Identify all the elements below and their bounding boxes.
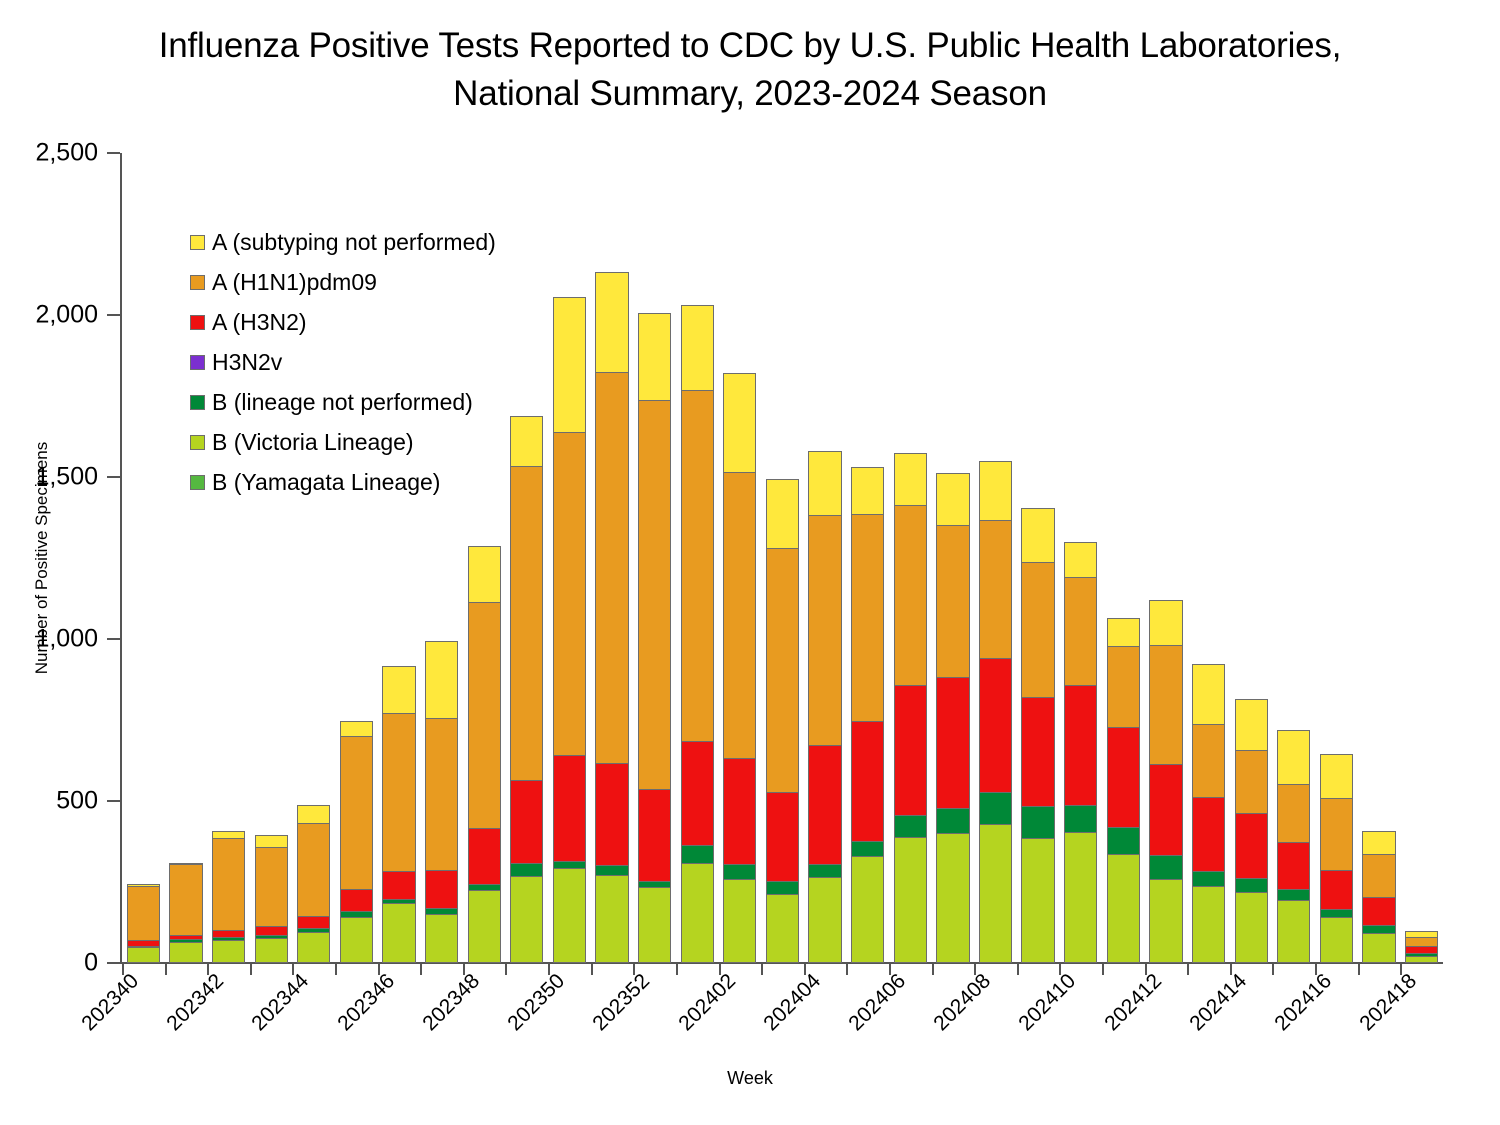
bar-segment: [936, 473, 969, 527]
bar-segment: [766, 881, 799, 895]
bar-segment: [851, 841, 884, 857]
legend-item[interactable]: B (Yamagata Lineage): [190, 462, 520, 502]
bar-segment: [169, 942, 202, 963]
bar-slot: [932, 153, 975, 963]
x-axis-tick-mark: [420, 963, 422, 975]
x-axis-tick-mark: [1017, 963, 1019, 975]
x-axis-tick-label: 202342: [163, 969, 230, 1036]
bar-segment: [723, 373, 756, 473]
bar-segment: [936, 808, 969, 835]
bar-segment: [1064, 805, 1097, 833]
legend-swatch-icon: [190, 395, 205, 410]
bar-slot: [1272, 153, 1315, 963]
bar-segment: [1021, 806, 1054, 839]
x-axis-tick-mark: [676, 963, 678, 975]
bar-segment: [1362, 831, 1395, 855]
bar-slot: 202402: [719, 153, 762, 963]
bar-slot: 202414: [1230, 153, 1273, 963]
bar-segment: [681, 845, 714, 864]
y-axis-tick-label: 0: [0, 949, 120, 978]
y-axis-tick-label: 500: [0, 787, 120, 816]
x-axis-tick-label: 202416: [1270, 969, 1337, 1036]
x-axis-tick-label: 202418: [1356, 969, 1423, 1036]
bar-segment: [681, 863, 714, 963]
bar-segment: [468, 890, 501, 963]
chart-title: Influenza Positive Tests Reported to CDC…: [0, 22, 1500, 119]
legend-item[interactable]: H3N2v: [190, 342, 520, 382]
bar-segment: [723, 472, 756, 758]
bar-slot: [1358, 153, 1401, 963]
bar-slot: 202416: [1315, 153, 1358, 963]
bar-segment: [425, 641, 458, 719]
x-axis-tick-label: 202352: [589, 969, 656, 1036]
bar-slot: 202340: [122, 153, 165, 963]
bar-segment: [425, 718, 458, 871]
stacked-bar[interactable]: [255, 835, 288, 963]
bar-segment: [1320, 870, 1353, 910]
y-axis-label: Number of Positive Specimens: [32, 442, 52, 674]
bar-segment: [1277, 730, 1310, 785]
bar-segment: [851, 856, 884, 963]
bar-segment: [1320, 754, 1353, 799]
stacked-bar[interactable]: [1405, 931, 1438, 963]
bar-segment: [1277, 842, 1310, 890]
bar-segment: [1021, 562, 1054, 698]
bar-slot: [1017, 153, 1060, 963]
bar-segment: [638, 400, 671, 790]
bar-segment: [894, 453, 927, 505]
bar-segment: [723, 864, 756, 881]
bar-segment: [1149, 600, 1182, 647]
bar-segment: [1362, 933, 1395, 963]
y-axis-tick-label: 1,500: [0, 463, 120, 492]
bar-slot: 202408: [974, 153, 1017, 963]
legend-label: H3N2v: [212, 349, 282, 376]
bar-segment: [340, 917, 373, 963]
bar-segment: [936, 833, 969, 963]
stacked-bar[interactable]: [808, 451, 841, 963]
bar-segment: [894, 815, 927, 838]
bar-segment: [510, 876, 543, 963]
bar-segment: [1277, 900, 1310, 964]
x-axis-tick-label: 202348: [418, 969, 485, 1036]
bar-segment: [1064, 542, 1097, 578]
stacked-bar[interactable]: [553, 297, 586, 963]
bar-segment: [979, 658, 1012, 793]
bar-segment: [510, 466, 543, 781]
bar-slot: 202404: [804, 153, 847, 963]
bar-segment: [1149, 645, 1182, 764]
bar-segment: [468, 546, 501, 603]
legend-item[interactable]: A (H1N1)pdm09: [190, 262, 520, 302]
legend-label: A (H3N2): [212, 309, 307, 336]
bar-segment: [894, 837, 927, 963]
bar-segment: [894, 505, 927, 686]
x-axis-tick-label: 202412: [1100, 969, 1167, 1036]
stacked-bar[interactable]: [723, 373, 756, 963]
bar-segment: [1107, 618, 1140, 647]
bar-segment: [595, 875, 628, 963]
bar-segment: [1149, 855, 1182, 881]
bar-slot: [846, 153, 889, 963]
bar-segment: [297, 805, 330, 824]
bar-segment: [169, 864, 202, 936]
bar-segment: [468, 602, 501, 829]
legend-swatch-icon: [190, 315, 205, 330]
stacked-bar[interactable]: [766, 479, 799, 963]
chart-title-line-1: Influenza Positive Tests Reported to CDC…: [40, 22, 1460, 70]
bar-slot: [1187, 153, 1230, 963]
stacked-bar[interactable]: [1192, 664, 1225, 963]
legend-swatch-icon: [190, 235, 205, 250]
bar-segment: [382, 903, 415, 963]
bar-segment: [255, 847, 288, 927]
bar-segment: [297, 823, 330, 917]
bar-segment: [1320, 798, 1353, 871]
stacked-bar[interactable]: [425, 641, 458, 963]
bar-segment: [1362, 854, 1395, 898]
bar-segment: [1107, 646, 1140, 728]
bar-segment: [808, 451, 841, 516]
legend-label: A (subtyping not performed): [212, 229, 496, 256]
stacked-bar[interactable]: [681, 305, 714, 963]
bar-segment: [1021, 697, 1054, 807]
bar-segment: [340, 721, 373, 737]
bar-segment: [808, 864, 841, 879]
x-axis-tick-label: 202406: [844, 969, 911, 1036]
stacked-bar[interactable]: [1021, 508, 1054, 963]
legend-label: B (lineage not performed): [212, 389, 473, 416]
bar-slot: [676, 153, 719, 963]
bar-segment: [1235, 878, 1268, 894]
x-axis-tick-label: 202404: [759, 969, 826, 1036]
bar-segment: [340, 889, 373, 912]
y-axis-tick-mark: [107, 962, 120, 964]
stacked-bar[interactable]: [382, 666, 415, 963]
x-axis-tick-mark: [1358, 963, 1360, 975]
stacked-bar[interactable]: [1320, 754, 1353, 963]
stacked-bar[interactable]: [212, 831, 245, 963]
bar-segment: [425, 870, 458, 910]
bar-segment: [979, 520, 1012, 659]
x-axis-tick-label: 202414: [1185, 969, 1252, 1036]
bar-segment: [808, 745, 841, 865]
bar-segment: [1235, 892, 1268, 963]
legend-item[interactable]: B (lineage not performed): [190, 382, 520, 422]
y-axis-tick-mark: [107, 314, 120, 316]
stacked-bar[interactable]: [1064, 542, 1097, 963]
legend-swatch-icon: [190, 435, 205, 450]
x-axis-tick-label: 202350: [503, 969, 570, 1036]
bar-slot: 202350: [548, 153, 591, 963]
bar-segment: [425, 914, 458, 963]
legend-swatch-icon: [190, 275, 205, 290]
x-axis-tick-label: 202410: [1015, 969, 1082, 1036]
bar-segment: [979, 792, 1012, 824]
bar-segment: [1192, 724, 1225, 798]
bar-segment: [1192, 871, 1225, 887]
stacked-bar[interactable]: [1235, 699, 1268, 963]
x-axis-tick-label: 202344: [248, 969, 315, 1036]
bar-segment: [766, 548, 799, 793]
bar-segment: [1107, 727, 1140, 828]
x-axis-tick-label: 202346: [333, 969, 400, 1036]
stacked-bar[interactable]: [1277, 730, 1310, 963]
y-axis-tick-mark: [107, 476, 120, 478]
bar-segment: [553, 868, 586, 963]
bar-segment: [1192, 797, 1225, 872]
legend-label: B (Yamagata Lineage): [212, 469, 440, 496]
bar-segment: [382, 871, 415, 900]
bar-slot: 202412: [1145, 153, 1188, 963]
stacked-bar[interactable]: [894, 453, 927, 963]
bar-segment: [340, 736, 373, 890]
stacked-bar[interactable]: [340, 721, 373, 963]
y-axis-tick-mark: [107, 638, 120, 640]
bar-slot: 202418: [1400, 153, 1443, 963]
bar-segment: [894, 685, 927, 816]
bar-segment: [638, 887, 671, 963]
bar-segment: [936, 677, 969, 809]
bar-segment: [638, 313, 671, 401]
stacked-bar[interactable]: [1107, 618, 1140, 963]
bar-segment: [468, 828, 501, 884]
bar-segment: [723, 879, 756, 963]
x-axis-tick-mark: [505, 963, 507, 975]
bar-segment: [766, 479, 799, 549]
stacked-bar[interactable]: [1362, 831, 1395, 963]
bar-slot: [1102, 153, 1145, 963]
bar-segment: [1320, 917, 1353, 963]
x-axis-tick-mark: [165, 963, 167, 975]
stacked-bar[interactable]: [297, 805, 330, 963]
bar-segment: [297, 932, 330, 963]
stacked-bar[interactable]: [936, 473, 969, 963]
x-axis-tick-label: 202402: [674, 969, 741, 1036]
bar-segment: [1235, 750, 1268, 814]
bar-segment: [1107, 827, 1140, 856]
bar-segment: [510, 780, 543, 864]
x-axis-tick-mark: [761, 963, 763, 975]
stacked-bar[interactable]: [468, 546, 501, 963]
stacked-bar[interactable]: [127, 884, 160, 963]
bar-segment: [212, 838, 245, 931]
stacked-bar[interactable]: [851, 467, 884, 963]
bar-segment: [808, 877, 841, 963]
x-axis-tick-mark: [591, 963, 593, 975]
legend-swatch-icon: [190, 355, 205, 370]
bar-slot: 202352: [633, 153, 676, 963]
bar-segment: [1277, 784, 1310, 843]
legend-label: B (Victoria Lineage): [212, 429, 414, 456]
bar-segment: [1021, 508, 1054, 563]
bar-slot: 202406: [889, 153, 932, 963]
y-axis-tick-label: 1,000: [0, 625, 120, 654]
bar-segment: [212, 940, 245, 963]
bar-segment: [1021, 838, 1054, 963]
x-axis-tick-mark: [1102, 963, 1104, 975]
bar-segment: [936, 525, 969, 678]
bar-segment: [638, 789, 671, 882]
legend-item[interactable]: A (subtyping not performed): [190, 222, 520, 262]
bar-segment: [510, 863, 543, 877]
bar-segment: [851, 514, 884, 722]
bar-segment: [681, 305, 714, 391]
bar-segment: [1405, 956, 1438, 963]
x-axis-tick-label: 202340: [77, 969, 144, 1036]
legend-label: A (H1N1)pdm09: [212, 269, 377, 296]
x-axis-tick-mark: [1272, 963, 1274, 975]
bar-segment: [553, 755, 586, 862]
bar-segment: [681, 741, 714, 845]
bar-segment: [1192, 664, 1225, 725]
bar-segment: [595, 763, 628, 866]
stacked-bar[interactable]: [595, 272, 628, 963]
x-axis-tick-mark: [335, 963, 337, 975]
y-axis-tick-mark: [107, 800, 120, 802]
stacked-bar[interactable]: [169, 863, 202, 963]
x-axis-tick-mark: [250, 963, 252, 975]
x-axis-label: Week: [0, 1068, 1500, 1089]
chart-title-line-2: National Summary, 2023-2024 Season: [40, 70, 1460, 118]
bar-segment: [1107, 854, 1140, 963]
y-axis-tick-mark: [107, 152, 120, 154]
bar-segment: [851, 721, 884, 842]
stacked-bar[interactable]: [979, 461, 1012, 963]
y-axis-tick-label: 2,500: [0, 139, 120, 168]
bar-segment: [979, 824, 1012, 963]
x-axis-tick-label: 202408: [930, 969, 997, 1036]
bar-slot: [591, 153, 634, 963]
x-axis-tick-mark: [932, 963, 934, 975]
legend-item[interactable]: A (H3N2): [190, 302, 520, 342]
x-axis-tick-mark: [846, 963, 848, 975]
bar-segment: [766, 792, 799, 882]
stacked-bar[interactable]: [638, 313, 671, 963]
bar-segment: [1149, 879, 1182, 963]
bar-segment: [553, 432, 586, 756]
bar-segment: [595, 272, 628, 372]
bar-segment: [1362, 897, 1395, 926]
bar-segment: [382, 713, 415, 872]
stacked-bar[interactable]: [1149, 600, 1182, 963]
bar-segment: [808, 515, 841, 746]
bar-segment: [681, 390, 714, 743]
bar-segment: [1149, 764, 1182, 856]
bar-segment: [1235, 813, 1268, 879]
bar-segment: [1192, 886, 1225, 963]
legend-swatch-icon: [190, 475, 205, 490]
bar-segment: [382, 666, 415, 715]
bar-segment: [1064, 577, 1097, 687]
bar-segment: [766, 894, 799, 963]
x-axis-tick-mark: [1187, 963, 1189, 975]
bar-segment: [1064, 685, 1097, 806]
bar-segment: [1064, 832, 1097, 963]
bar-segment: [723, 758, 756, 865]
bar-segment: [553, 297, 586, 433]
bar-segment: [127, 886, 160, 941]
chart-legend: A (subtyping not performed)A (H1N1)pdm09…: [190, 222, 520, 502]
bar-slot: [761, 153, 804, 963]
bar-segment: [979, 461, 1012, 521]
legend-item[interactable]: B (Victoria Lineage): [190, 422, 520, 462]
bar-segment: [127, 947, 160, 963]
bar-segment: [255, 938, 288, 963]
bar-segment: [595, 372, 628, 764]
bar-slot: 202410: [1059, 153, 1102, 963]
bar-segment: [851, 467, 884, 515]
bar-segment: [1235, 699, 1268, 751]
y-axis-tick-label: 2,000: [0, 301, 120, 330]
